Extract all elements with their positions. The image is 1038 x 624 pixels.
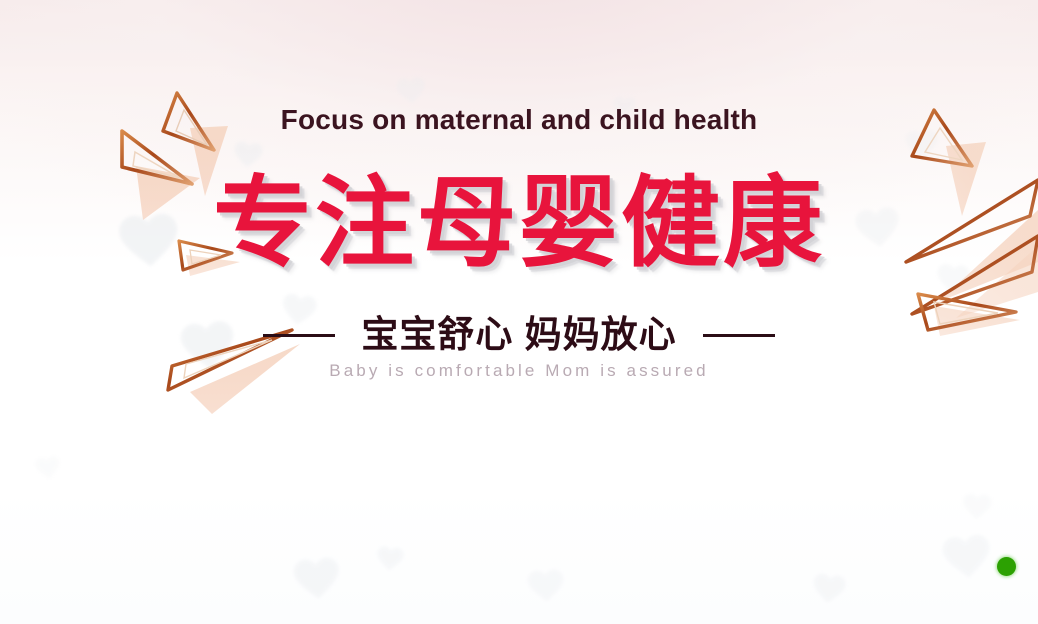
poster-headline: 专注母婴健康 <box>0 168 1038 278</box>
tagline-rule-left <box>263 334 335 337</box>
poster-canvas: Focus on maternal and child health 专注母婴健… <box>0 0 1038 624</box>
poster-text-block: Focus on maternal and child health 专注母婴健… <box>0 0 1038 624</box>
poster-tagline: 宝宝舒心 妈妈放心 <box>361 313 676 357</box>
status-indicator-dot <box>997 557 1016 576</box>
poster-eyebrow-text: Focus on maternal and child health <box>0 104 1038 136</box>
poster-tagline-row: 宝宝舒心 妈妈放心 <box>0 313 1038 357</box>
tagline-rule-right <box>703 334 775 337</box>
poster-subline-text: Baby is comfortable Mom is assured <box>0 361 1038 381</box>
